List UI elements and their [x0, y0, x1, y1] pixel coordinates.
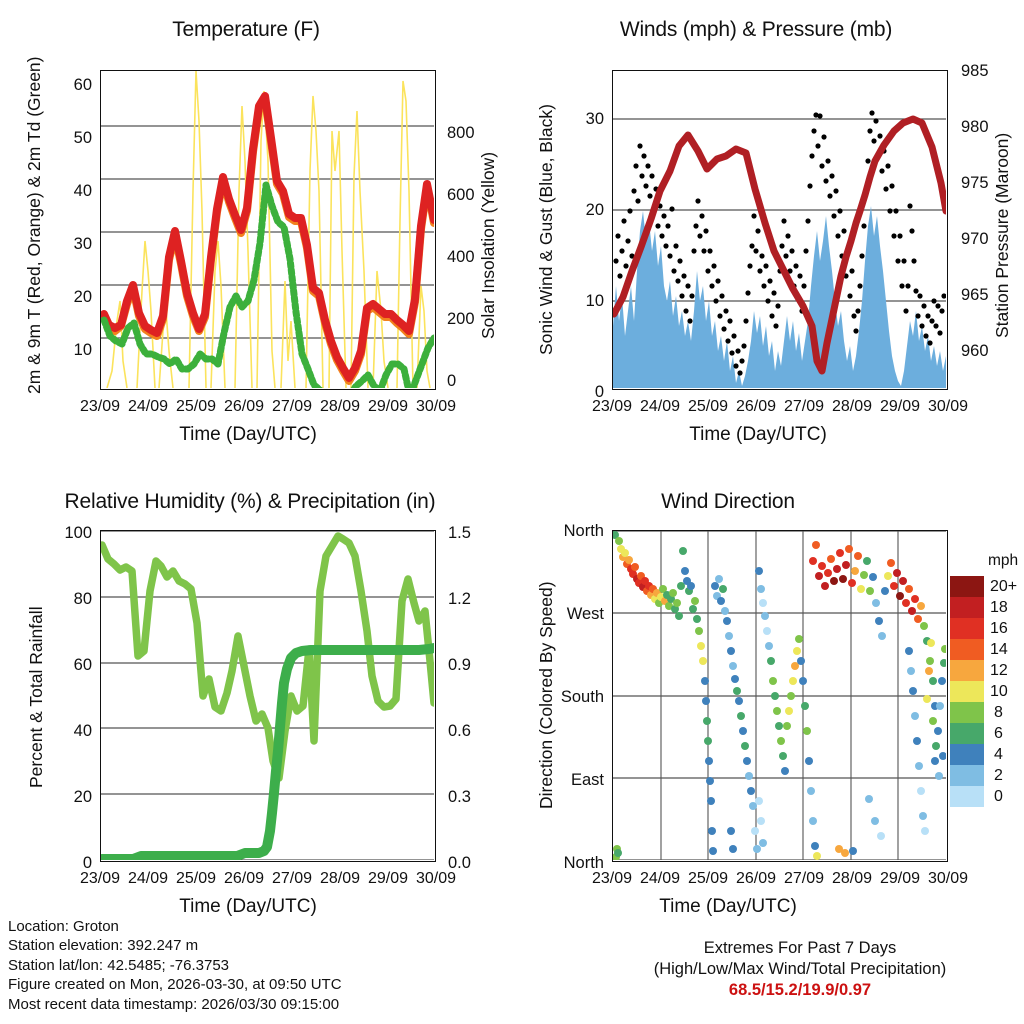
colorbar-band: [950, 681, 984, 702]
humidity-xtick: 30/09: [406, 870, 466, 888]
direction-plot-area: [612, 530, 948, 862]
temperature-plot-area: [100, 70, 436, 390]
humidity-panel: Relative Humidity (%) & Precipitation (i…: [0, 480, 512, 920]
direction-ytick: South: [542, 688, 604, 707]
temperature-ytick-right: 0: [447, 372, 456, 391]
humidity-plot-area: [100, 530, 436, 862]
direction-ytick: North: [542, 522, 604, 541]
data-timestamp-line: Most recent data timestamp: 2026/03/30 0…: [8, 995, 342, 1014]
direction-xtick: 30/09: [918, 870, 978, 888]
winds-ytick: 30: [560, 110, 604, 129]
humidity-ytick: 60: [40, 656, 92, 675]
winds-x-axis-label: Time (Day/UTC): [502, 424, 1014, 446]
winds-ytick-right: 965: [961, 286, 989, 305]
colorbar-label: 4: [994, 746, 1003, 764]
temperature-ytick: 40: [48, 182, 92, 201]
humidity-ytick: 20: [40, 788, 92, 807]
winds-y-axis-label-right: Station Pressure (Maroon): [992, 110, 1013, 360]
winds-xtick: 30/09: [918, 398, 978, 416]
temperature-y-axis-label-right: Solar Insolation (Yellow): [478, 130, 499, 360]
colorbar-label: 20+: [990, 578, 1017, 596]
temperature-ytick-right: 800: [447, 124, 475, 143]
temperature-panel-title: Temperature (F): [0, 18, 502, 42]
winds-plot-area: [612, 70, 948, 390]
extremes-subheading: (High/Low/Max Wind/Total Precipitation): [600, 959, 1000, 980]
winds-ytick: 10: [560, 292, 604, 311]
colorbar-label: 10: [990, 683, 1008, 701]
temperature-ytick: 50: [48, 129, 92, 148]
temperature-ytick: 30: [48, 235, 92, 254]
temperature-x-axis-label: Time (Day/UTC): [0, 424, 504, 446]
colorbar-label: 14: [990, 641, 1008, 659]
humidity-ytick-right: 0.6: [448, 722, 471, 741]
humidity-ytick-right: 1.5: [448, 524, 471, 543]
colorbar-title: mph: [988, 552, 1018, 570]
humidity-ytick-right: 0.3: [448, 788, 471, 807]
latlon-line: Station lat/lon: 42.5485; -76.3753: [8, 956, 342, 975]
colorbar-label: 12: [990, 662, 1008, 680]
humidity-ytick: 100: [40, 524, 92, 543]
colorbar-band: [950, 639, 984, 660]
winds-ytick-right: 970: [961, 230, 989, 249]
humidity-ytick-right: 1.2: [448, 590, 471, 609]
colorbar-band: [950, 576, 984, 597]
colorbar-band: [950, 597, 984, 618]
winds-ytick-right: 975: [961, 174, 989, 193]
extremes-heading: Extremes For Past 7 Days: [600, 938, 1000, 959]
location-line: Location: Groton: [8, 917, 342, 936]
winds-panel: Winds (mph) & Pressure (mb) Sonic Wind &…: [512, 0, 1024, 460]
temperature-ytick: 10: [48, 341, 92, 360]
colorbar-band: [950, 723, 984, 744]
figure-created-line: Figure created on Mon, 2026-03-30, at 09…: [8, 975, 342, 994]
humidity-y-axis-label-left: Percent & Total Rainfall: [26, 590, 47, 805]
winds-panel-title: Winds (mph) & Pressure (mb): [500, 18, 1012, 42]
humidity-ytick: 80: [40, 590, 92, 609]
temperature-y-axis-label-left: 2m & 9m T (Red, Orange) & 2m Td (Green): [24, 64, 45, 394]
temperature-panel: Temperature (F) 2m & 9m T (Red, Orange) …: [0, 0, 512, 460]
winds-ytick: 20: [560, 201, 604, 220]
station-metadata: Location: Groton Station elevation: 392.…: [8, 917, 342, 1014]
humidity-ytick-right: 0.9: [448, 656, 471, 675]
colorbar-label: 6: [994, 725, 1003, 743]
extremes-values: 68.5/15.2/19.9/0.97: [600, 980, 1000, 1001]
direction-ytick: West: [542, 605, 604, 624]
temperature-ytick: 20: [48, 288, 92, 307]
temperature-ytick-right: 200: [447, 310, 475, 329]
colorbar-band: [950, 744, 984, 765]
colorbar-band: [950, 702, 984, 723]
colorbar-band: [950, 786, 984, 807]
elevation-line: Station elevation: 392.247 m: [8, 936, 342, 955]
colorbar-band: [950, 618, 984, 639]
direction-ytick: East: [542, 771, 604, 790]
temperature-ytick: 60: [48, 76, 92, 95]
winds-ytick-right: 960: [961, 342, 989, 361]
colorbar-label: 18: [990, 599, 1008, 617]
colorbar-label: 2: [994, 767, 1003, 785]
direction-x-axis-label: Time (Day/UTC): [472, 896, 984, 918]
direction-panel-title: Wind Direction: [472, 490, 984, 514]
temperature-ytick-right: 400: [447, 248, 475, 267]
colorbar-band: [950, 765, 984, 786]
colorbar-label: 8: [994, 704, 1003, 722]
humidity-ytick: 40: [40, 722, 92, 741]
colorbar-band: [950, 660, 984, 681]
humidity-panel-title: Relative Humidity (%) & Precipitation (i…: [0, 490, 506, 514]
direction-panel: Wind Direction Direction (Colored By Spe…: [512, 480, 1024, 920]
colorbar-swatches: [950, 576, 984, 807]
temperature-xtick: 30/09: [406, 398, 466, 416]
colorbar-label: 16: [990, 620, 1008, 638]
winds-ytick-right: 980: [961, 118, 989, 137]
temperature-ytick-right: 600: [447, 186, 475, 205]
winds-ytick-right: 985: [961, 62, 989, 81]
winds-y-axis-label-left: Sonic Wind & Gust (Blue, Black): [536, 95, 557, 365]
extremes-summary: Extremes For Past 7 Days (High/Low/Max W…: [600, 938, 1000, 1001]
colorbar-label: 0: [994, 788, 1003, 806]
humidity-x-axis-label: Time (Day/UTC): [0, 896, 504, 918]
